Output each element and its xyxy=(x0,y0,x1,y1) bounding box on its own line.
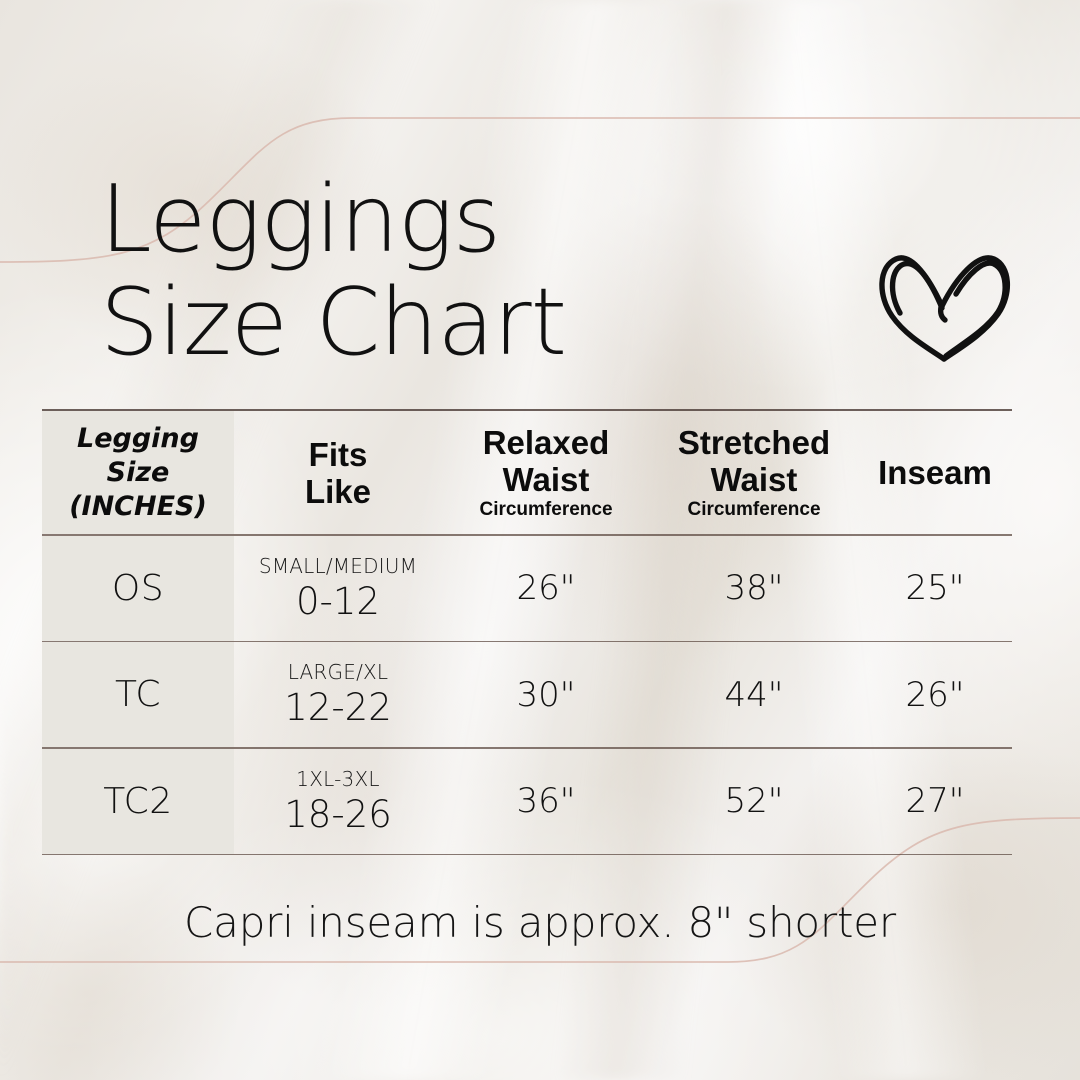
cell-fits-like: LARGE/XL 12-22 xyxy=(234,642,442,747)
value-legging-size: TC2 xyxy=(103,781,172,822)
cell-fits-like: 1XL-3XL 18-26 xyxy=(234,749,442,854)
cell-inseam: 27" xyxy=(858,749,1012,854)
header-stretched-waist-label: Stretched Waist xyxy=(678,424,830,498)
table-header-row: Legging Size (INCHES) Fits Like Relaxed … xyxy=(42,411,1012,534)
table-row: OS SMALL/MEDIUM 0-12 26" 38" 25" xyxy=(42,536,1012,641)
value-inseam: 25" xyxy=(906,568,965,608)
cell-stretched-waist: 44" xyxy=(650,642,858,747)
value-legging-size: OS xyxy=(112,568,164,609)
value-inseam: 27" xyxy=(906,781,965,821)
value-fits-like-range: 18-26 xyxy=(284,793,392,836)
value-relaxed-waist: 30" xyxy=(517,675,576,715)
value-relaxed-waist: 36" xyxy=(517,781,576,821)
size-chart-table: Legging Size (INCHES) Fits Like Relaxed … xyxy=(42,409,1012,855)
header-relaxed-waist-label: Relaxed Waist xyxy=(483,424,610,498)
header-cell-fits-like: Fits Like xyxy=(234,411,442,534)
cell-stretched-waist: 52" xyxy=(650,749,858,854)
cell-relaxed-waist: 36" xyxy=(442,749,650,854)
value-legging-size: TC xyxy=(115,674,161,715)
table-row: TC2 1XL-3XL 18-26 36" 52" 27" xyxy=(42,749,1012,854)
value-relaxed-waist: 26" xyxy=(517,568,576,608)
header-cell-relaxed-waist: Relaxed Waist Circumference xyxy=(442,411,650,534)
cell-relaxed-waist: 26" xyxy=(442,536,650,641)
cell-legging-size: OS xyxy=(42,536,234,641)
header-cell-inseam: Inseam xyxy=(858,411,1012,534)
header-fits-like-label: Fits Like xyxy=(305,436,371,510)
value-fits-like-label: SMALL/MEDIUM xyxy=(259,554,417,578)
size-chart-canvas: Leggings Size Chart Legging Size (INCHES… xyxy=(0,0,1080,1080)
value-fits-like-label: LARGE/XL xyxy=(288,660,389,684)
table-row: TC LARGE/XL 12-22 30" 44" 26" xyxy=(42,642,1012,747)
cell-fits-like: SMALL/MEDIUM 0-12 xyxy=(234,536,442,641)
hand-drawn-heart-icon xyxy=(868,228,1018,364)
table-rule-bottom xyxy=(42,854,1012,856)
cell-stretched-waist: 38" xyxy=(650,536,858,641)
value-fits-like-range: 12-22 xyxy=(284,686,392,729)
page-title: Leggings Size Chart xyxy=(100,168,566,374)
header-inseam-label: Inseam xyxy=(878,454,992,491)
value-fits-like-label: 1XL-3XL xyxy=(296,767,379,791)
header-cell-stretched-waist: Stretched Waist Circumference xyxy=(650,411,858,534)
value-stretched-waist: 38" xyxy=(725,568,784,608)
cell-legging-size: TC2 xyxy=(42,749,234,854)
cell-legging-size: TC xyxy=(42,642,234,747)
header-stretched-waist-sublabel: Circumference xyxy=(687,499,820,521)
header-cell-legging-size: Legging Size (INCHES) xyxy=(42,411,234,534)
value-stretched-waist: 44" xyxy=(725,675,784,715)
cell-inseam: 26" xyxy=(858,642,1012,747)
footer-note: Capri inseam is approx. 8" shorter xyxy=(0,898,1080,947)
value-stretched-waist: 52" xyxy=(725,781,784,821)
cell-relaxed-waist: 30" xyxy=(442,642,650,747)
cell-inseam: 25" xyxy=(858,536,1012,641)
header-legging-size-label: Legging Size (INCHES) xyxy=(42,422,234,524)
value-inseam: 26" xyxy=(906,675,965,715)
value-fits-like-range: 0-12 xyxy=(296,580,380,623)
header-relaxed-waist-sublabel: Circumference xyxy=(479,499,612,521)
